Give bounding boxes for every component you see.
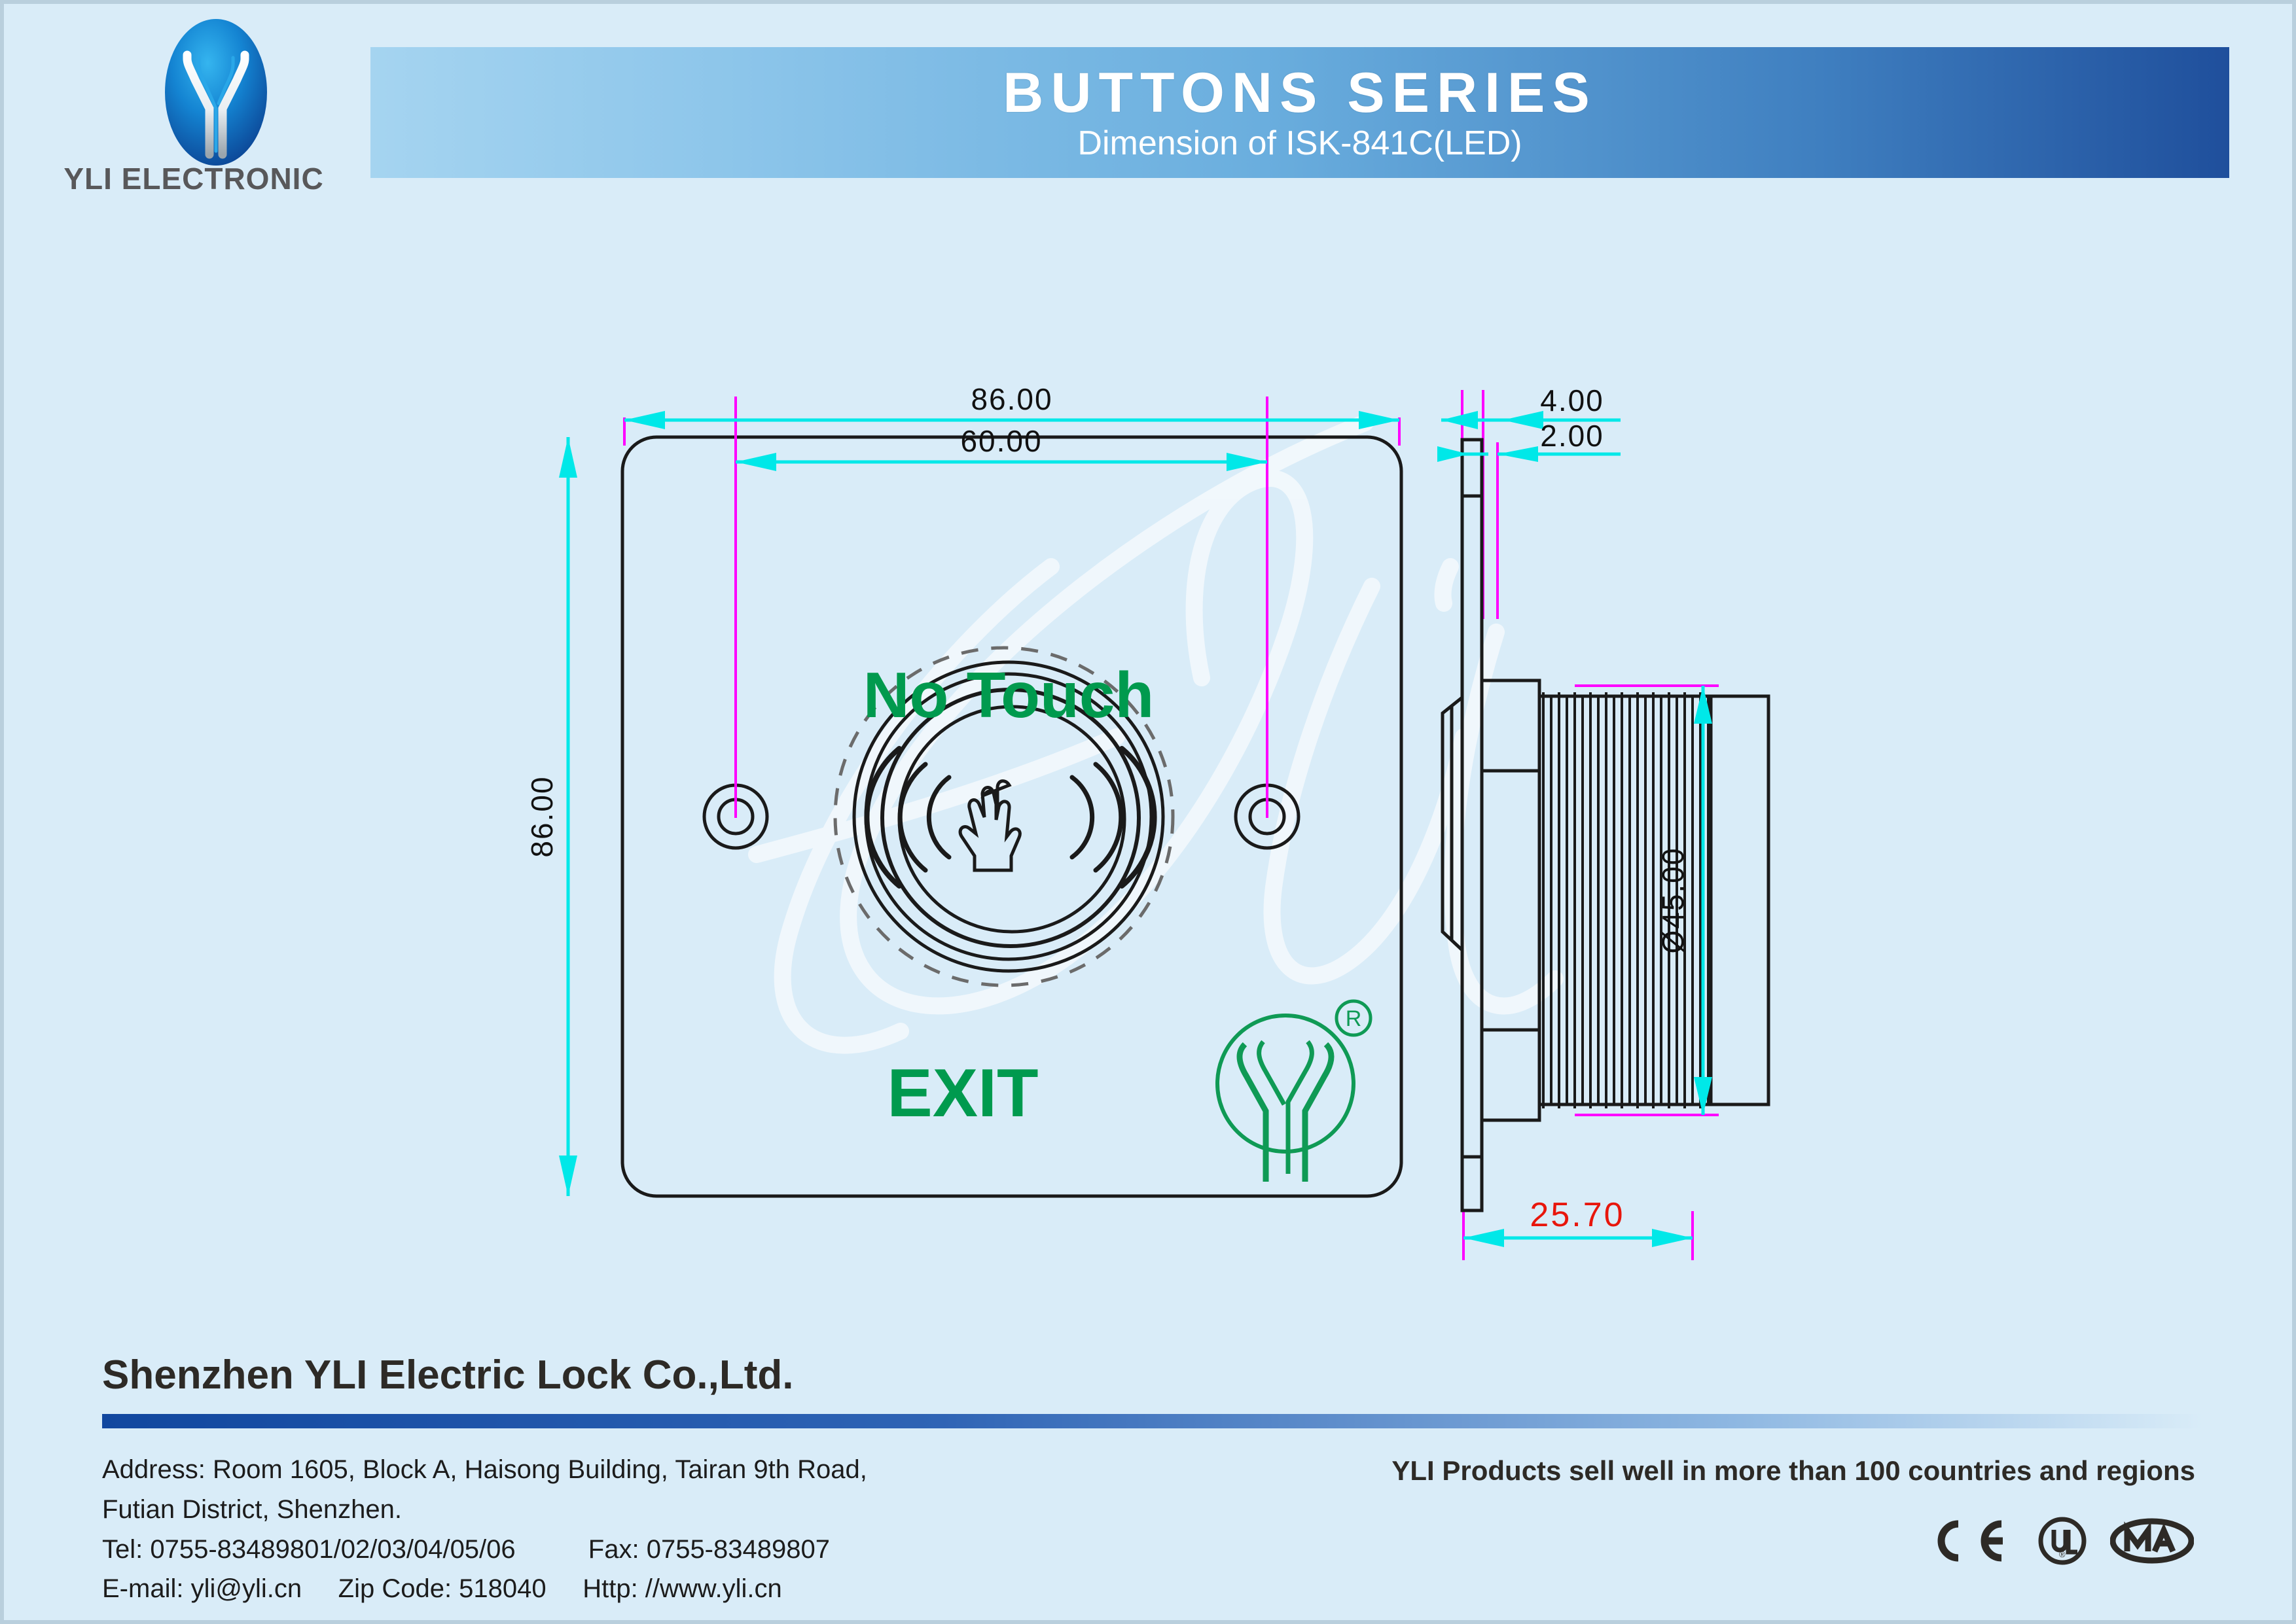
brand-logo-text: YLI ELECTRONIC <box>40 161 348 196</box>
company-name: Shenzhen YLI Electric Lock Co.,Ltd. <box>102 1352 793 1398</box>
side-view-collar <box>1482 680 1539 1120</box>
yli-oval-y-logo-icon <box>161 17 271 168</box>
dimension-label-height-86: 86.00 <box>525 775 559 857</box>
contact-block: Address: Room 1605, Block A, Haisong Bui… <box>102 1450 1215 1609</box>
side-view-bevel <box>1443 697 1462 950</box>
dimension-label-thickness-2: 2.00 <box>1540 419 1604 453</box>
address-line-2: Futian District, Shenzhen. <box>102 1490 1215 1530</box>
ma-mark-icon <box>2110 1516 2194 1566</box>
front-label-no-touch: No Touch <box>863 659 1155 731</box>
dimension-height-86 <box>559 437 577 1196</box>
address-line-3: Tel: 0755-83489801/02/03/04/05/06 Fax: 0… <box>102 1530 1215 1570</box>
footer-divider <box>102 1414 2203 1428</box>
dimension-label-depth-2570: 25.70 <box>1530 1196 1624 1234</box>
address-line-4: E-mail: yli@yli.cn Zip Code: 518040 Http… <box>102 1569 1215 1609</box>
dimension-label-width-60: 60.00 <box>960 424 1042 458</box>
svg-text:R: R <box>1346 1006 1362 1031</box>
datasheet-page: YLI ELECTRONIC BUTTONS SERIES Dimension … <box>0 0 2296 1624</box>
dimension-label-thickness-4: 4.00 <box>1540 383 1604 417</box>
certification-marks: ® <box>1929 1515 2194 1566</box>
address-line-1: Address: Room 1605, Block A, Haisong Bui… <box>102 1450 1215 1490</box>
page-title: BUTTONS SERIES <box>1003 65 1596 121</box>
dimension-label-width-86: 86.00 <box>971 382 1052 416</box>
footer-tagline: YLI Products sell well in more than 100 … <box>1391 1455 2195 1487</box>
ce-mark-icon <box>1929 1516 2015 1566</box>
dimension-label-diameter-45: Ø45.00 <box>1656 847 1690 954</box>
brand-logo: YLI ELECTRONIC <box>40 12 348 208</box>
front-label-exit: EXIT <box>887 1055 1038 1131</box>
technical-drawing: 86.00 60.00 86.00 No Touch EXIT <box>4 200 2296 1260</box>
front-yli-badge-icon: R <box>1217 1001 1371 1182</box>
header-banner: BUTTONS SERIES Dimension of ISK-841C(LED… <box>370 47 2229 178</box>
side-view-end-cap <box>1711 696 1768 1104</box>
ul-mark-icon: ® <box>2037 1515 2088 1566</box>
page-subtitle: Dimension of ISK-841C(LED) <box>1077 126 1522 160</box>
side-view-faceplate <box>1462 440 1482 1210</box>
svg-text:®: ® <box>2059 1549 2066 1559</box>
